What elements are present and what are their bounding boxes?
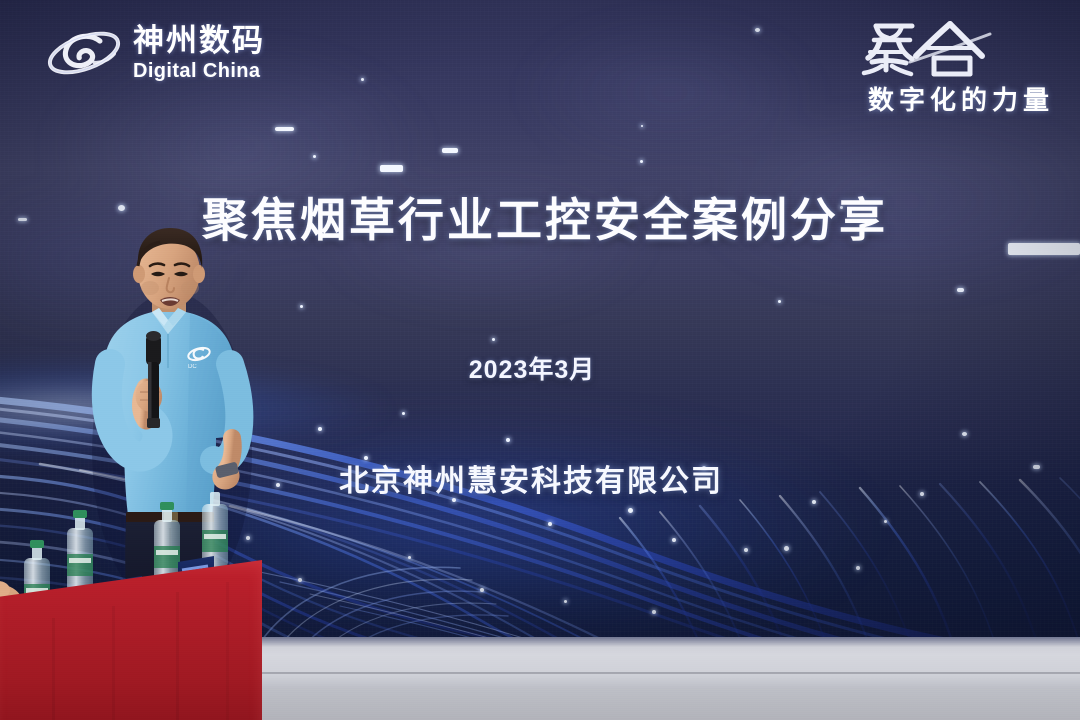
event-logo: 数字化的力量 (854, 18, 1054, 117)
brand-english-name: Digital China (133, 61, 265, 81)
microphone-icon (146, 331, 161, 428)
water-bottle (67, 510, 93, 592)
cloth-fold (176, 592, 179, 720)
digital-china-logo: 神州数码 Digital China (44, 22, 265, 84)
water-bottle (154, 502, 180, 584)
stage-photo: 聚焦烟草行业工控安全案例分享 2023年3月 北京神州慧安科技有限公司 神州数码… (0, 0, 1080, 720)
brand-wordmark: 神州数码 Digital China (133, 25, 265, 81)
cloth-fold (226, 582, 229, 720)
cloth-fold (112, 606, 115, 720)
svg-text:DC: DC (188, 364, 197, 370)
foreground-table (0, 560, 262, 720)
juhe-calligraphy-logo-icon (854, 18, 1054, 82)
water-bottle (202, 492, 228, 568)
event-subtitle: 数字化的力量 (854, 80, 1054, 117)
digital-china-swirl-logo-icon (44, 22, 124, 84)
brand-chinese-name: 神州数码 (133, 25, 265, 56)
cloth-fold (52, 618, 55, 720)
